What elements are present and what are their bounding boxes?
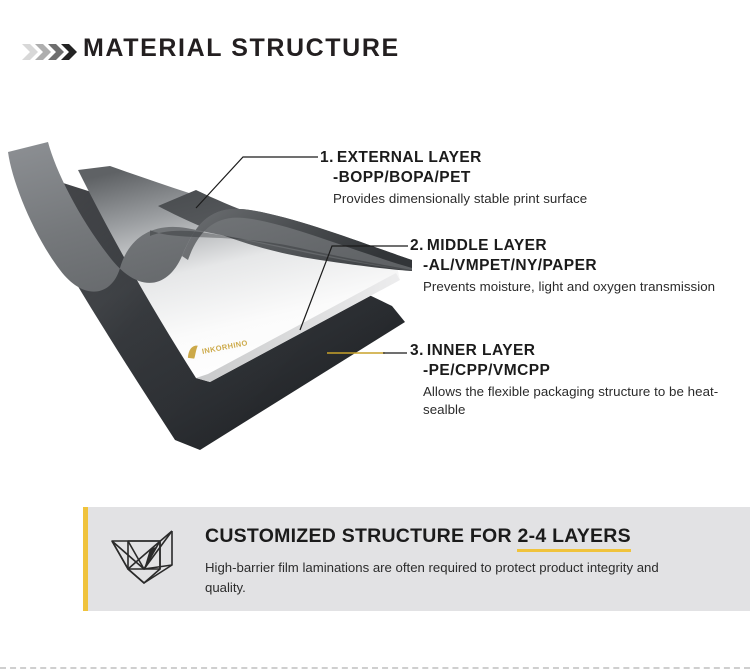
banner-text-block: CUSTOMIZED STRUCTURE FOR 2-4 LAYERS High… xyxy=(205,525,735,598)
layer-3-description: Allows the flexible packaging structure … xyxy=(423,383,723,419)
layer-1-number: 1. xyxy=(320,149,334,166)
layer-label-3: 3.INNER LAYER -PE/CPP/VMCPP Allows the f… xyxy=(410,341,723,419)
layer-3-number: 3. xyxy=(410,342,424,359)
double-chevron-right-icon xyxy=(22,40,80,64)
layer-2-number: 2. xyxy=(410,237,424,254)
customized-structure-banner: CUSTOMIZED STRUCTURE FOR 2-4 LAYERS High… xyxy=(83,507,750,611)
banner-heading: CUSTOMIZED STRUCTURE FOR 2-4 LAYERS xyxy=(205,525,735,548)
material-structure-page: MATERIAL STRUCTURE xyxy=(0,0,750,671)
layer-2-material: -AL/VMPET/NY/PAPER xyxy=(423,256,715,276)
page-title: MATERIAL STRUCTURE xyxy=(83,36,400,61)
layer-1-material: -BOPP/BOPA/PET xyxy=(333,168,587,188)
layer-3-title: 3.INNER LAYER xyxy=(410,341,723,361)
banner-accent-bar xyxy=(83,507,88,611)
banner-heading-highlight: 2-4 LAYERS xyxy=(517,525,630,548)
bottom-divider xyxy=(0,667,750,669)
layer-3-material: -PE/CPP/VMCPP xyxy=(423,361,723,381)
layer-1-title: 1.EXTERNAL LAYER xyxy=(320,148,587,168)
layer-2-description: Prevents moisture, light and oxygen tran… xyxy=(423,278,715,296)
layer-label-1: 1.EXTERNAL LAYER -BOPP/BOPA/PET Provides… xyxy=(320,148,587,208)
origami-package-icon xyxy=(106,525,178,593)
banner-heading-prefix: CUSTOMIZED STRUCTURE FOR xyxy=(205,525,517,547)
layer-2-title: 2.MIDDLE LAYER xyxy=(410,236,715,256)
layer-label-2: 2.MIDDLE LAYER -AL/VMPET/NY/PAPER Preven… xyxy=(410,236,715,296)
layer-1-description: Provides dimensionally stable print surf… xyxy=(333,190,587,208)
banner-body-text: High-barrier film laminations are often … xyxy=(205,558,675,598)
